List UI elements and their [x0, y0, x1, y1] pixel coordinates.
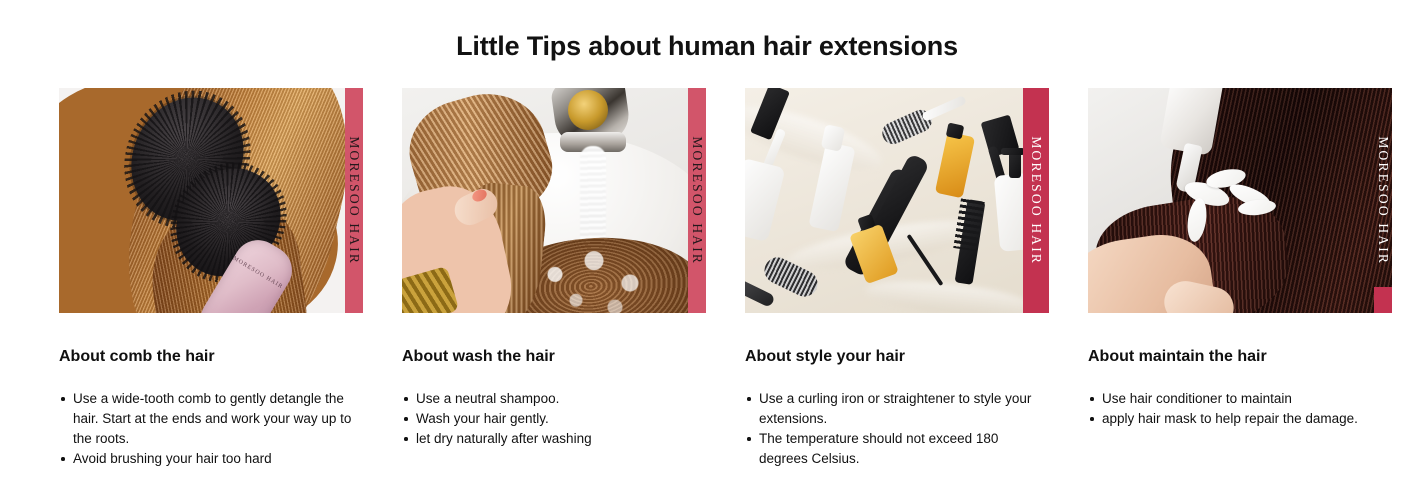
list-item: Use hair conditioner to maintain	[1088, 389, 1392, 409]
list-item: Avoid brushing your hair too hard	[59, 449, 363, 469]
brand-watermark-band: MORESOO HAIR	[1374, 88, 1392, 313]
tip-bullets-comb: Use a wide-tooth comb to gently detangle…	[59, 389, 363, 469]
list-item: Use a curling iron or straightener to st…	[745, 389, 1049, 429]
photo-style-your-hair	[745, 88, 1049, 313]
tip-image-style: MORESOO HAIR	[745, 88, 1049, 313]
list-item: apply hair mask to help repair the damag…	[1088, 409, 1392, 429]
tip-card-maintain: MORESOO HAIR About maintain the hair Use…	[1088, 88, 1392, 469]
tip-image-wash: MORESOO HAIR	[402, 88, 706, 313]
brand-watermark-text: MORESOO HAIR	[690, 136, 704, 265]
photo-comb-the-hair: MORESOO HAIR	[59, 88, 363, 313]
tip-card-comb: MORESOO HAIR MORESOO HAIR About comb the…	[59, 88, 363, 469]
tip-heading-comb: About comb the hair	[59, 347, 363, 366]
list-item: let dry naturally after washing	[402, 429, 706, 449]
tips-card-grid: MORESOO HAIR MORESOO HAIR About comb the…	[59, 88, 1407, 469]
list-item: Use a neutral shampoo.	[402, 389, 706, 409]
tip-heading-maintain: About maintain the hair	[1088, 347, 1392, 366]
photo-wash-the-hair	[402, 88, 706, 313]
tip-card-wash: MORESOO HAIR About wash the hair Use a n…	[402, 88, 706, 469]
brand-watermark-band: MORESOO HAIR	[345, 88, 363, 313]
tip-heading-wash: About wash the hair	[402, 347, 706, 366]
tip-bullets-style: Use a curling iron or straightener to st…	[745, 389, 1049, 469]
list-item: Wash your hair gently.	[402, 409, 706, 429]
tip-bullets-maintain: Use hair conditioner to maintain apply h…	[1088, 389, 1392, 429]
page-title: Little Tips about human hair extensions	[0, 31, 1414, 62]
brand-watermark-text: MORESOO HAIR	[1029, 136, 1043, 265]
tip-bullets-wash: Use a neutral shampoo. Wash your hair ge…	[402, 389, 706, 449]
tip-heading-style: About style your hair	[745, 347, 1049, 366]
photo-maintain-the-hair	[1088, 88, 1392, 313]
list-item: The temperature should not exceed 180 de…	[745, 429, 1049, 469]
brand-watermark-text: MORESOO HAIR	[347, 136, 361, 265]
brand-watermark-band: MORESOO HAIR	[688, 88, 706, 313]
tip-image-comb: MORESOO HAIR MORESOO HAIR	[59, 88, 363, 313]
brand-watermark-band: MORESOO HAIR	[1023, 88, 1049, 313]
brand-watermark-text: MORESOO HAIR	[1376, 136, 1390, 265]
tip-card-style: MORESOO HAIR About style your hair Use a…	[745, 88, 1049, 469]
list-item: Use a wide-tooth comb to gently detangle…	[59, 389, 363, 449]
tip-image-maintain: MORESOO HAIR	[1088, 88, 1392, 313]
